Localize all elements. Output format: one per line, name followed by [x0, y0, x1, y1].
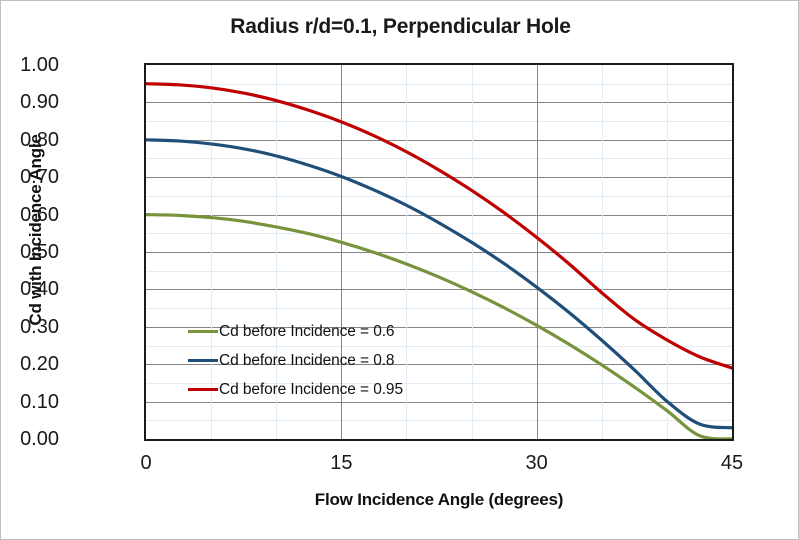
x-tick-label: 15 — [311, 453, 371, 473]
y-tick-label: 0.50 — [0, 242, 59, 262]
legend-color-swatch — [188, 359, 218, 362]
x-tick-label: 0 — [116, 453, 176, 473]
y-tick-label: 0.30 — [0, 317, 59, 337]
legend-item: Cd before Incidence = 0.95 — [188, 375, 403, 404]
chart-page: Radius r/d=0.1, Perpendicular Hole Cd wi… — [0, 0, 799, 540]
y-tick-label: 1.00 — [0, 55, 59, 75]
legend-item-label: Cd before Incidence = 0.8 — [219, 352, 394, 370]
legend-color-swatch — [188, 388, 218, 391]
x-tick-label: 45 — [702, 453, 762, 473]
y-tick-label: 0.40 — [0, 279, 59, 299]
y-tick-label: 0.10 — [0, 392, 59, 412]
legend-item-label: Cd before Incidence = 0.95 — [219, 381, 403, 399]
y-axis-title: Cd with Incidence Angle — [26, 65, 46, 395]
legend-item: Cd before Incidence = 0.8 — [188, 346, 403, 375]
y-tick-label: 0.60 — [0, 205, 59, 225]
x-tick-label: 30 — [507, 453, 567, 473]
chart-legend: Cd before Incidence = 0.6Cd before Incid… — [188, 317, 403, 404]
x-axis-title: Flow Incidence Angle (degrees) — [144, 490, 734, 510]
y-tick-label: 0.00 — [0, 429, 59, 449]
legend-item: Cd before Incidence = 0.6 — [188, 317, 403, 346]
plot-area: Cd before Incidence = 0.6Cd before Incid… — [144, 63, 734, 441]
y-tick-label: 0.80 — [0, 130, 59, 150]
legend-item-label: Cd before Incidence = 0.6 — [219, 323, 394, 341]
y-tick-label: 0.90 — [0, 92, 59, 112]
legend-color-swatch — [188, 330, 218, 333]
y-tick-label: 0.70 — [0, 167, 59, 187]
y-tick-label: 0.20 — [0, 354, 59, 374]
chart-title: Radius r/d=0.1, Perpendicular Hole — [1, 15, 799, 39]
